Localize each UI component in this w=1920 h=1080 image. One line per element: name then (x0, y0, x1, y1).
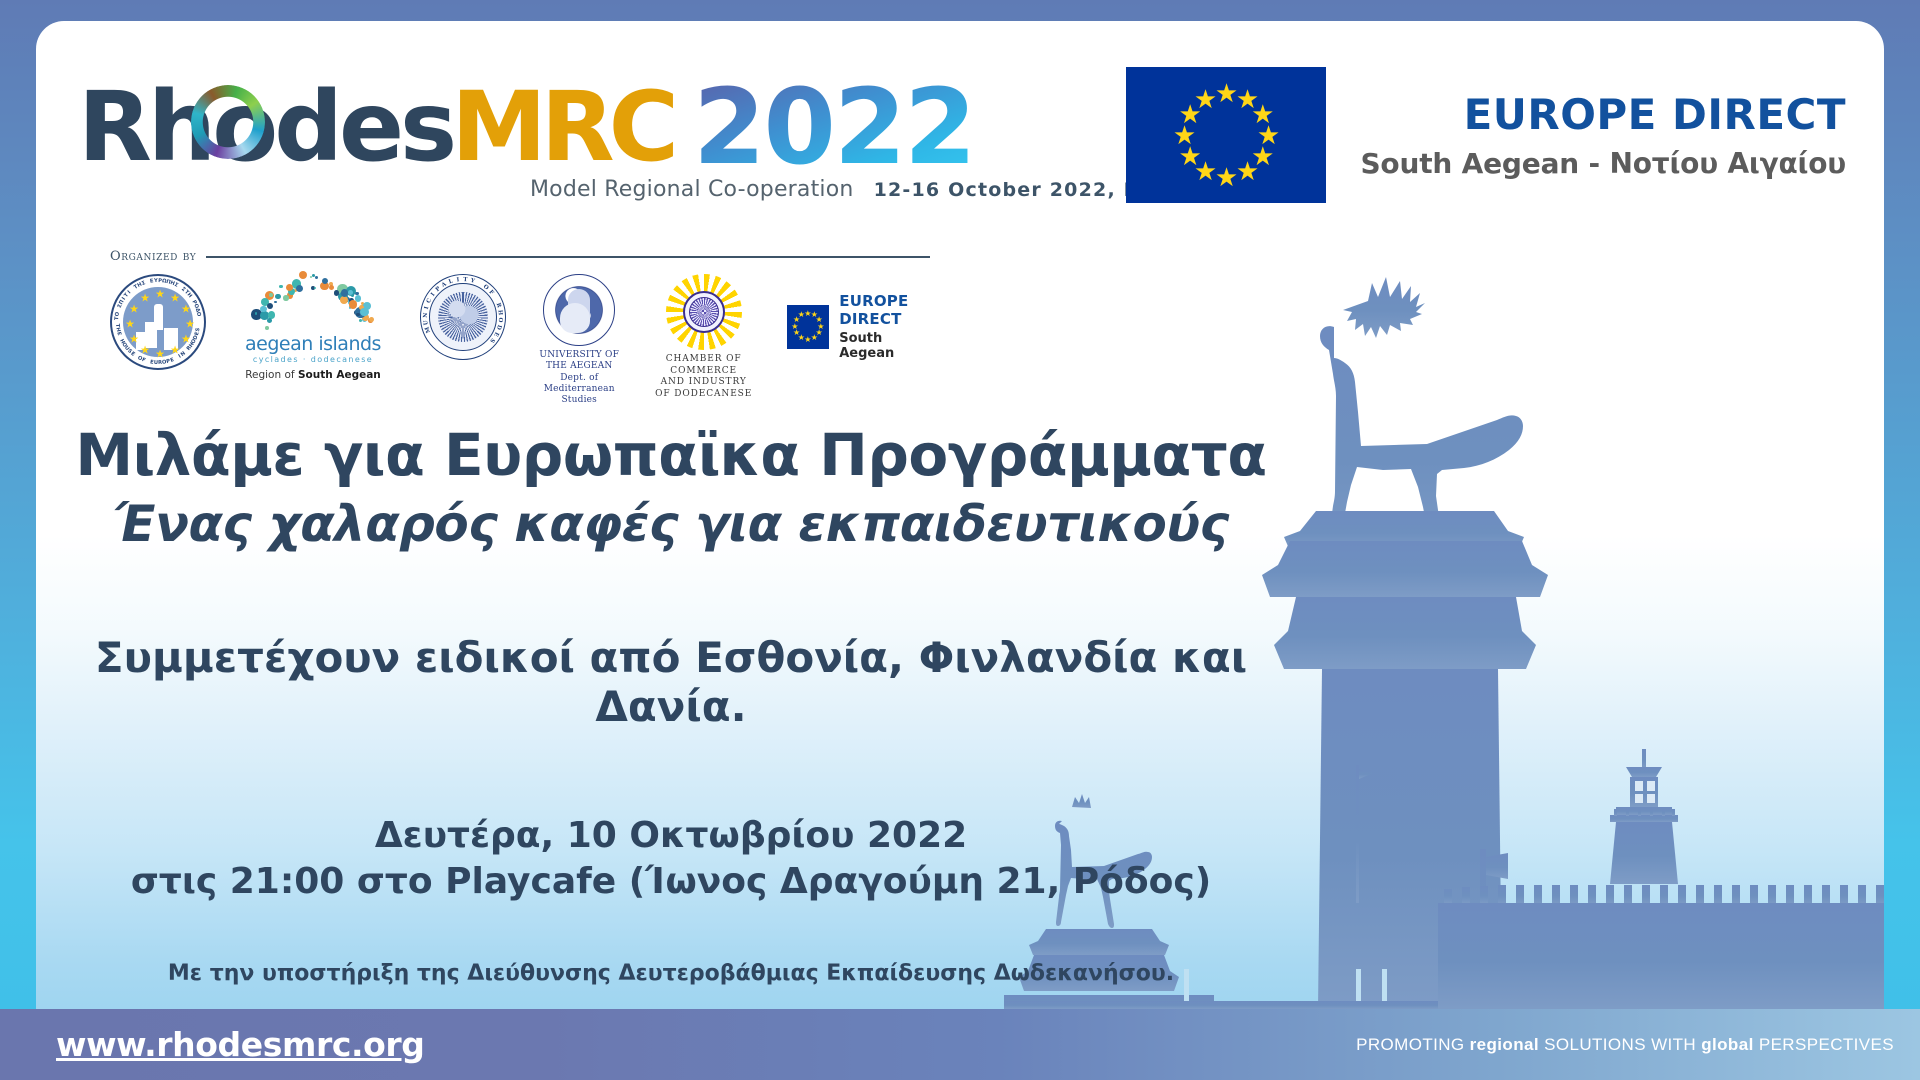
event-time-place: στις 21:00 στο Playcafe (Ίωνος Δραγούμη … (36, 859, 1306, 905)
partner-logo-municipality-of-rhodes: MUNICIPALITY OF RHODES (420, 274, 506, 360)
region-prefix: Region of (245, 369, 298, 381)
house-of-europe-emblem-icon: ΤΟ ΣΠΙΤΙ ΤΗΣ ΕΥΡΩΠΗΣ ΣΤΗ ΡΟΔΟTHE HOUSE O… (110, 274, 206, 370)
partner-logo-university-of-the-aegean: UNIVERSITY OF THE AEGEAN Dept. of Medite… (538, 274, 620, 406)
footer-slogan: PROMOTING regional SOLUTIONS WITH global… (1356, 1035, 1894, 1055)
university-line2: Dept. of Mediterranean Studies (538, 373, 620, 407)
eu-flag-icon: ★★★★★★★★★★★★ (1126, 67, 1326, 203)
chamber-line2: AND INDUSTRY OF DODECANESE (652, 377, 754, 400)
emblem-ring-char: Ο (195, 312, 202, 317)
aegean-dot (275, 294, 281, 300)
logo-rhodes-text: Rhodes (78, 79, 453, 175)
aegean-dot (334, 290, 340, 296)
when-block: Δευτέρα, 10 Οκτωβρίου 2022 στις 21:00 στ… (36, 813, 1306, 905)
support-line: Με την υποστήριξη της Διεύθυνσης Δευτερο… (36, 961, 1306, 986)
aegean-islands-region: Region of South Aegean (245, 369, 381, 381)
eu-star-icon: ★ (155, 288, 165, 301)
poster-footer: www.rhodesmrc.org PROMOTING regional SOL… (0, 1009, 1920, 1080)
emblem-ring-char: F (141, 357, 146, 364)
aegean-dot (267, 303, 273, 309)
aegean-dot (279, 285, 282, 288)
aegean-dot (315, 276, 318, 279)
logo-year-text: 2022 (693, 79, 974, 175)
eu-flag-small-icon: ★★★★★★★★★★★★ (787, 305, 829, 349)
emblem-ring-char: Σ (173, 282, 179, 289)
eu-star-icon: ★ (1215, 80, 1238, 106)
europe-direct-small-title: EUROPE DIRECT (839, 292, 930, 328)
partner-logo-europe-direct: ★★★★★★★★★★★★ EUROPE DIRECT South Aegean (787, 274, 930, 361)
subheadline: Ένας χαλαρός καφές για εκπαιδευτικούς (36, 495, 1306, 553)
seal-ring-char: Y (470, 278, 475, 285)
eu-star-icon: ★ (125, 318, 135, 331)
aegean-dot-arc-icon (238, 274, 388, 332)
aegean-dot (267, 318, 272, 323)
eu-star-icon: ★ (155, 348, 165, 361)
aegean-dot (329, 285, 334, 290)
seal-ring-char: N (423, 313, 429, 318)
partner-logo-house-of-europe: ΤΟ ΣΠΙΤΙ ΤΗΣ ΕΥΡΩΠΗΣ ΣΤΗ ΡΟΔΟTHE HOUSE O… (110, 274, 206, 370)
eu-star-icon: ★ (181, 333, 191, 346)
aegean-islands-title: aegean islands (245, 333, 381, 355)
europe-direct-small-logo: ★★★★★★★★★★★★ EUROPE DIRECT South Aegean (787, 292, 930, 361)
logo-tagline: Model Regional Co-operation (530, 177, 854, 202)
aegean-dot (348, 290, 353, 295)
aegean-islands-subtitle: cyclades · dodecanese (253, 355, 373, 364)
municipality-seal-icon: MUNICIPALITY OF RHODES (420, 274, 506, 360)
eu-star-icon: ★ (181, 303, 191, 316)
eu-star-icon: ★ (798, 311, 805, 319)
seal-ring-char: T (463, 277, 468, 283)
aegean-dot (340, 296, 348, 304)
organized-by-header: Organized by (110, 249, 930, 264)
eu-star-icon: ★ (811, 334, 818, 342)
aegean-dot (296, 285, 303, 292)
chamber-line1: CHAMBER OF COMMERCE (652, 354, 754, 377)
eu-star-icon: ★ (129, 303, 139, 316)
poster-message: Μιλάμε για Ευρωπαϊκα Προγράμματα Ένας χα… (36, 421, 1306, 1009)
poster-card: Rhodes MRC 2022 Model Regional Co-operat… (36, 21, 1884, 1009)
seal-ring-char: S (488, 337, 495, 344)
partner-logo-row: ΤΟ ΣΠΙΤΙ ΤΗΣ ΕΥΡΩΠΗΣ ΣΤΗ ΡΟΔΟTHE HOUSE O… (110, 274, 930, 406)
seal-ring-char: O (482, 284, 490, 292)
slogan-emphasis: global (1701, 1035, 1753, 1054)
europe-direct-small-text: EUROPE DIRECT South Aegean (839, 292, 930, 361)
seal-ring-char: P (435, 286, 442, 293)
event-date: Δευτέρα, 10 Οκτωβρίου 2022 (36, 813, 1306, 859)
seal-ring-char: F (487, 289, 494, 296)
eu-star-icon: ★ (804, 336, 811, 344)
seal-ring-char: O (497, 317, 503, 322)
seal-ring-char: I (424, 306, 430, 310)
slogan-text: PROMOTING (1356, 1035, 1470, 1054)
aegean-dot (314, 287, 316, 289)
color-ring-icon (191, 85, 265, 159)
divider-rule (206, 256, 930, 258)
aegean-dot (260, 306, 266, 312)
eu-star-icon: ★ (140, 343, 150, 356)
eu-star-icon: ★ (1236, 158, 1259, 184)
university-caption: UNIVERSITY OF THE AEGEAN Dept. of Medite… (538, 350, 620, 406)
emblem-ring-char: Ο (114, 312, 121, 317)
partner-logo-chamber-of-commerce: CHAMBER OF COMMERCE AND INDUSTRY OF DODE… (652, 274, 754, 401)
eu-star-icon: ★ (129, 333, 139, 346)
eu-star-icon: ★ (140, 292, 150, 305)
emblem-ring-char: E (170, 357, 175, 364)
europe-direct-small-subtitle: South Aegean (839, 331, 930, 361)
slogan-text: PERSPECTIVES (1754, 1035, 1894, 1054)
website-url-link[interactable]: www.rhodesmrc.org (56, 1025, 425, 1064)
aegean-dot (299, 271, 307, 279)
chamber-caption: CHAMBER OF COMMERCE AND INDUSTRY OF DODE… (652, 354, 754, 401)
emblem-ring-char: E (115, 331, 122, 336)
seal-ring-char: C (426, 298, 433, 305)
seal-ring-char: R (495, 302, 502, 308)
headline: Μιλάμε για Ευρωπαϊκα Προγράμματα (36, 421, 1306, 489)
region-name: South Aegean (298, 369, 381, 381)
university-emblem-icon (543, 274, 615, 346)
speakers-line: Συμμετέχουν ειδικοί από Εσθονία, Φινλανδ… (36, 633, 1306, 731)
slogan-text: SOLUTIONS WITH (1539, 1035, 1701, 1054)
seal-ring-char: A (441, 281, 448, 288)
organized-by-label: Organized by (110, 249, 196, 264)
slogan-emphasis: regional (1470, 1035, 1539, 1054)
chamber-sun-emblem-icon (666, 274, 742, 350)
partner-logo-aegean-islands: aegean islands cyclades · dodecanese Reg… (238, 274, 388, 381)
europe-direct-text: EUROPE DIRECT South Aegean - Νοτίου Αιγα… (1360, 90, 1846, 180)
seal-ring-char: I (430, 292, 436, 298)
poster-header: Rhodes MRC 2022 Model Regional Co-operat… (36, 21, 1884, 251)
eu-star-icon: ★ (170, 292, 180, 305)
eu-star-icon: ★ (1215, 164, 1238, 190)
seal-ring-text: MUNICIPALITY OF RHODES (421, 275, 505, 359)
aegean-dot (369, 317, 374, 322)
emblem-ring-char: Σ (141, 280, 146, 287)
rhodesmrc-logo: Rhodes MRC 2022 Model Regional Co-operat… (78, 63, 1308, 202)
aegean-dot (341, 289, 348, 296)
seal-ring-char: U (423, 320, 430, 326)
logo-mrc-text: MRC (451, 79, 673, 175)
seal-ring-char: D (495, 324, 502, 330)
logo-wordmark: Rhodes MRC 2022 (78, 63, 1308, 175)
europe-direct-header-logo: ★★★★★★★★★★★★ EUROPE DIRECT South Aegean … (1126, 67, 1846, 203)
seal-ring-char: E (492, 331, 499, 338)
seal-ring-char: M (424, 326, 432, 334)
eu-star-icon: ★ (185, 318, 195, 331)
seal-ring-char: I (456, 277, 459, 283)
seal-ring-char: H (496, 310, 503, 316)
aegean-dot (265, 326, 269, 330)
eu-star-icon: ★ (1194, 86, 1217, 112)
university-line1: UNIVERSITY OF THE AEGEAN (538, 350, 620, 373)
europe-direct-subtitle: South Aegean - Νοτίου Αιγαίου (1360, 147, 1846, 180)
eu-star-icon: ★ (170, 343, 180, 356)
seal-ring-char: L (448, 279, 454, 286)
europe-direct-title: EUROPE DIRECT (1360, 90, 1846, 139)
aegean-dot (274, 301, 276, 303)
aegean-dot (283, 295, 288, 300)
organized-by-section: Organized by ΤΟ ΣΠΙΤΙ ΤΗΣ ΕΥΡΩΠΗΣ ΣΤΗ ΡΟ… (110, 249, 930, 406)
